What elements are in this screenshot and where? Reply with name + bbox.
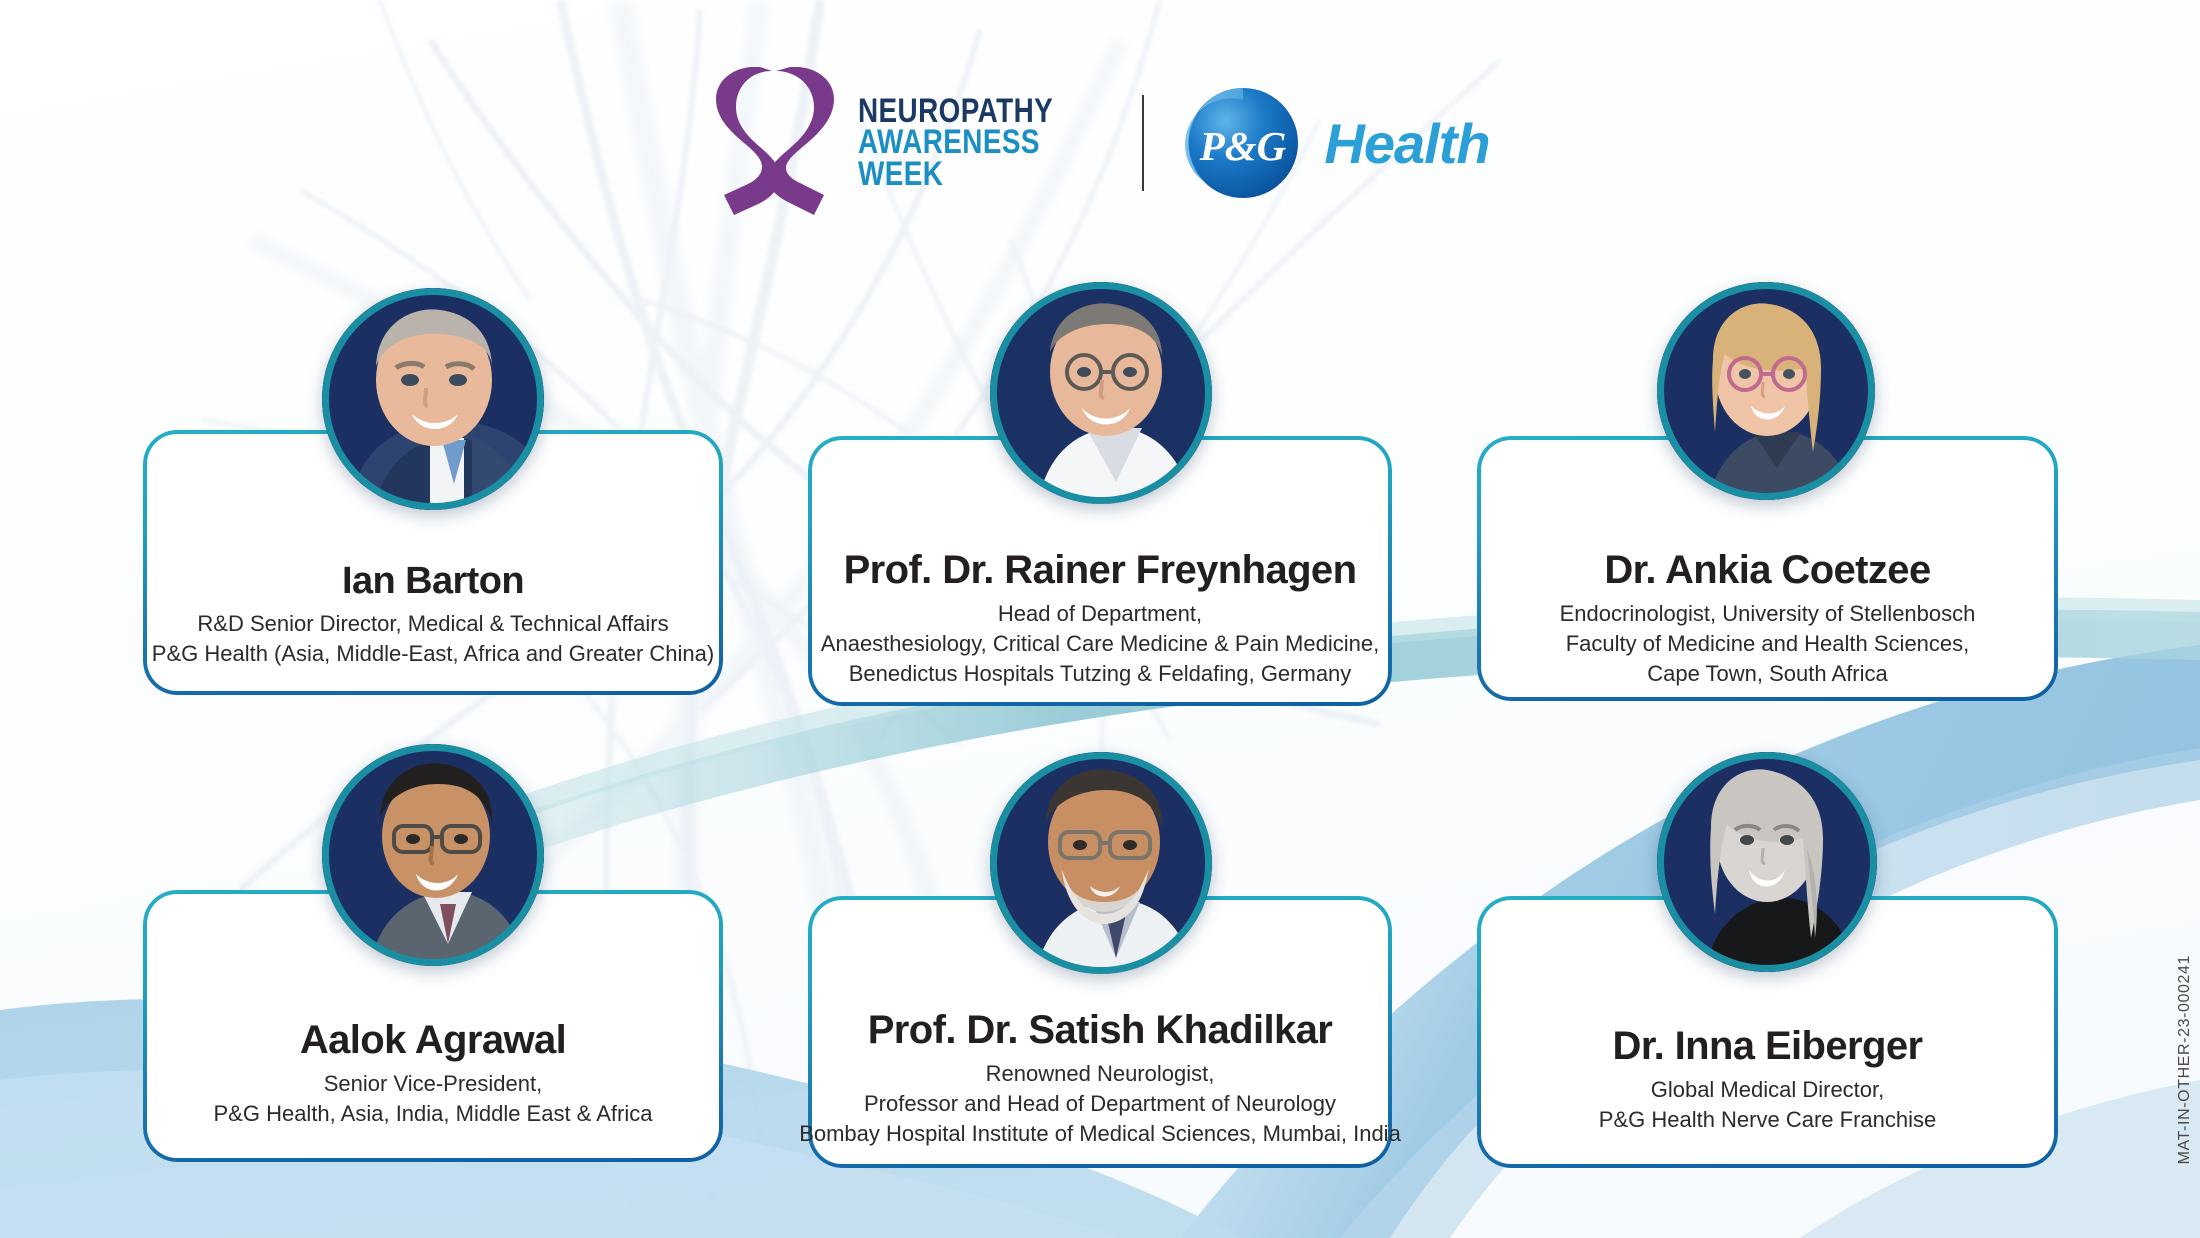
person-detail-line: Professor and Head of Department of Neur…	[864, 1091, 1336, 1117]
person-detail-line: R&D Senior Director, Medical & Technical…	[197, 611, 668, 637]
person-name: Ian Barton	[342, 560, 524, 603]
person-detail-line: Faculty of Medicine and Health Sciences,	[1566, 631, 1970, 657]
person-detail-line: P&G Health, Asia, India, Middle East & A…	[214, 1101, 653, 1127]
person-detail-line: Bombay Hospital Institute of Medical Sci…	[799, 1121, 1401, 1147]
header-logo-band: NEUROPATHY AWARENESS WEEK P&G	[0, 58, 2200, 228]
avatar-photo	[1657, 752, 1877, 972]
neuropathy-awareness-week-logo: NEUROPATHY AWARENESS WEEK	[710, 67, 1096, 219]
person-detail-line: Benedictus Hospitals Tutzing & Feldafing…	[849, 661, 1352, 687]
person-name: Prof. Dr. Satish Khadilkar	[868, 1008, 1333, 1053]
person-detail-line: Endocrinologist, University of Stellenbo…	[1560, 601, 1976, 627]
person-name: Dr. Inna Eiberger	[1613, 1024, 1923, 1069]
person-detail-line: P&G Health (Asia, Middle-East, Africa an…	[152, 641, 714, 667]
avatar-aalok-agrawal	[322, 744, 544, 966]
pg-moon-mark-icon: P&G	[1184, 84, 1302, 202]
avatar-ian-barton	[322, 288, 544, 510]
avatar-photo	[1657, 282, 1875, 500]
awareness-ribbon-icon	[710, 67, 838, 219]
person-detail-line: Global Medical Director,	[1651, 1077, 1885, 1103]
person-detail-line: Senior Vice-President,	[324, 1071, 543, 1097]
person-name: Prof. Dr. Rainer Freynhagen	[844, 548, 1357, 593]
campaign-wordmark: NEUROPATHY AWARENESS WEEK	[858, 96, 1096, 191]
avatar-photo	[322, 744, 544, 966]
person-detail-line: Anaesthesiology, Critical Care Medicine …	[821, 631, 1379, 657]
avatar-inna-eiberger	[1657, 752, 1877, 972]
material-code: MAT-IN-OTHER-23-000241	[2176, 955, 2194, 1164]
avatar-rainer-freynhagen	[990, 282, 1212, 504]
avatar-photo	[322, 288, 544, 510]
person-detail-line: Head of Department,	[998, 601, 1202, 627]
svg-text:P&G: P&G	[1199, 123, 1287, 169]
avatar-photo	[990, 282, 1212, 504]
person-detail-line: Renowned Neurologist,	[986, 1061, 1215, 1087]
avatar-photo	[990, 752, 1212, 974]
avatar-ankia-coetzee	[1657, 282, 1875, 500]
person-detail-line: Cape Town, South Africa	[1647, 661, 1888, 687]
avatar-satish-khadilkar	[990, 752, 1212, 974]
logo-divider	[1142, 95, 1144, 191]
person-detail-line: P&G Health Nerve Care Franchise	[1599, 1107, 1936, 1133]
person-name: Aalok Agrawal	[300, 1018, 566, 1063]
campaign-line-3: WEEK	[858, 159, 1053, 191]
pg-health-wordmark: Health	[1324, 111, 1489, 176]
person-name: Dr. Ankia Coetzee	[1604, 548, 1930, 593]
pg-health-logo: P&G Health	[1184, 84, 1489, 202]
